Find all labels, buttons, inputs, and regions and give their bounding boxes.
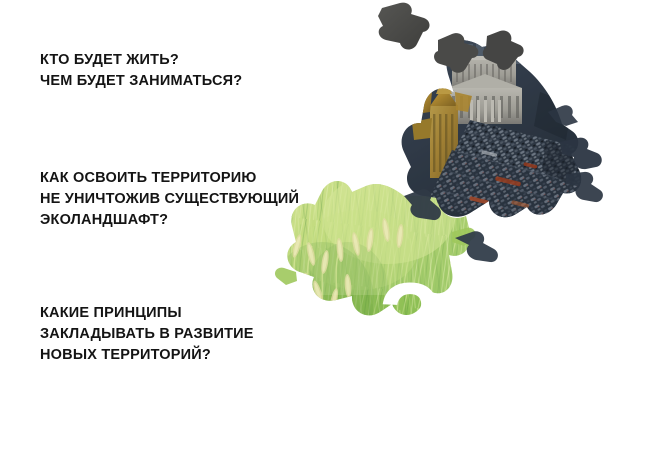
question-line: КАКИЕ ПРИНЦИПЫ [40, 303, 254, 324]
detached-puzzle-fragments [378, 3, 524, 73]
question-line: НЕ УНИЧТОЖИВ СУЩЕСТВУЮЩИЙ [40, 189, 299, 210]
question-block-what-principles: КАКИЕ ПРИНЦИПЫ ЗАКЛАДЫВАТЬ В РАЗВИТИЕ НО… [40, 303, 254, 366]
fragment-top-left [378, 3, 430, 50]
question-line: КАК ОСВОИТЬ ТЕРРИТОРИЮ [40, 168, 299, 189]
question-line: ЧЕМ БУДЕТ ЗАНИМАТЬСЯ? [40, 71, 242, 92]
question-block-how-to-develop: КАК ОСВОИТЬ ТЕРРИТОРИЮ НЕ УНИЧТОЖИВ СУЩЕ… [40, 168, 299, 231]
question-line: ЗАКЛАДЫВАТЬ В РАЗВИТИЕ [40, 324, 254, 345]
poster-canvas: ? КТО БУДЕТ ЖИТЬ? ЧЕМ БУДЕТ ЗАНИМАТЬСЯ? … [0, 0, 650, 459]
question-line: НОВЫХ ТЕРРИТОРИЙ? [40, 345, 254, 366]
question-line: ЭКОЛАНДШАФТ? [40, 210, 299, 231]
question-line: КТО БУДЕТ ЖИТЬ? [40, 50, 242, 71]
question-block-who-will-live: КТО БУДЕТ ЖИТЬ? ЧЕМ БУДЕТ ЗАНИМАТЬСЯ? [40, 50, 242, 92]
